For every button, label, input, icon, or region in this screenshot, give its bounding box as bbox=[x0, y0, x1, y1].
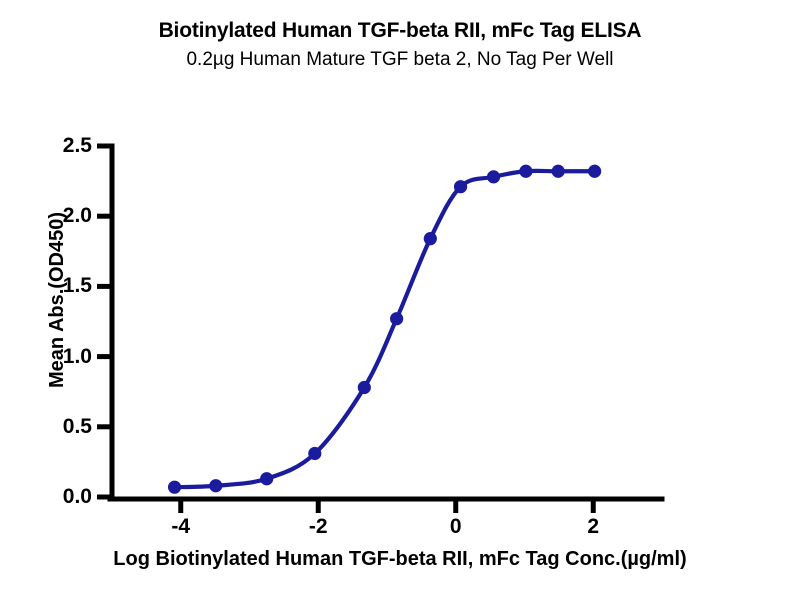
series-line bbox=[175, 171, 595, 487]
x-axis-tick-label: -4 bbox=[171, 515, 190, 539]
data-point-marker bbox=[588, 165, 601, 178]
data-point-marker bbox=[260, 472, 273, 485]
data-point-marker bbox=[424, 232, 437, 245]
y-axis-tick-label: 2.5 bbox=[63, 134, 92, 158]
data-point-marker bbox=[308, 447, 321, 460]
data-point-marker bbox=[552, 165, 565, 178]
x-axis-tick-label: -2 bbox=[309, 515, 328, 539]
data-point-marker bbox=[519, 165, 532, 178]
elisa-chart-figure: Biotinylated Human TGF-beta RII, mFc Tag… bbox=[0, 0, 800, 600]
data-point-marker bbox=[487, 170, 500, 183]
data-point-marker bbox=[209, 479, 222, 492]
x-axis-tick-label: 0 bbox=[450, 515, 462, 539]
y-axis-tick-label: 2.0 bbox=[63, 204, 92, 228]
data-point-marker bbox=[168, 481, 181, 494]
y-axis-tick-label: 1.0 bbox=[63, 345, 92, 369]
y-axis-tick-label: 0.5 bbox=[63, 415, 92, 439]
data-point-marker bbox=[390, 312, 403, 325]
data-point-marker bbox=[358, 381, 371, 394]
x-axis-tick-label: 2 bbox=[587, 515, 599, 539]
axes bbox=[110, 146, 662, 499]
y-axis-tick-label: 0.0 bbox=[63, 485, 92, 509]
data-series-group bbox=[168, 165, 601, 494]
y-axis-tick-label: 1.5 bbox=[63, 274, 92, 298]
data-point-marker bbox=[454, 180, 467, 193]
plot-area bbox=[0, 0, 800, 600]
